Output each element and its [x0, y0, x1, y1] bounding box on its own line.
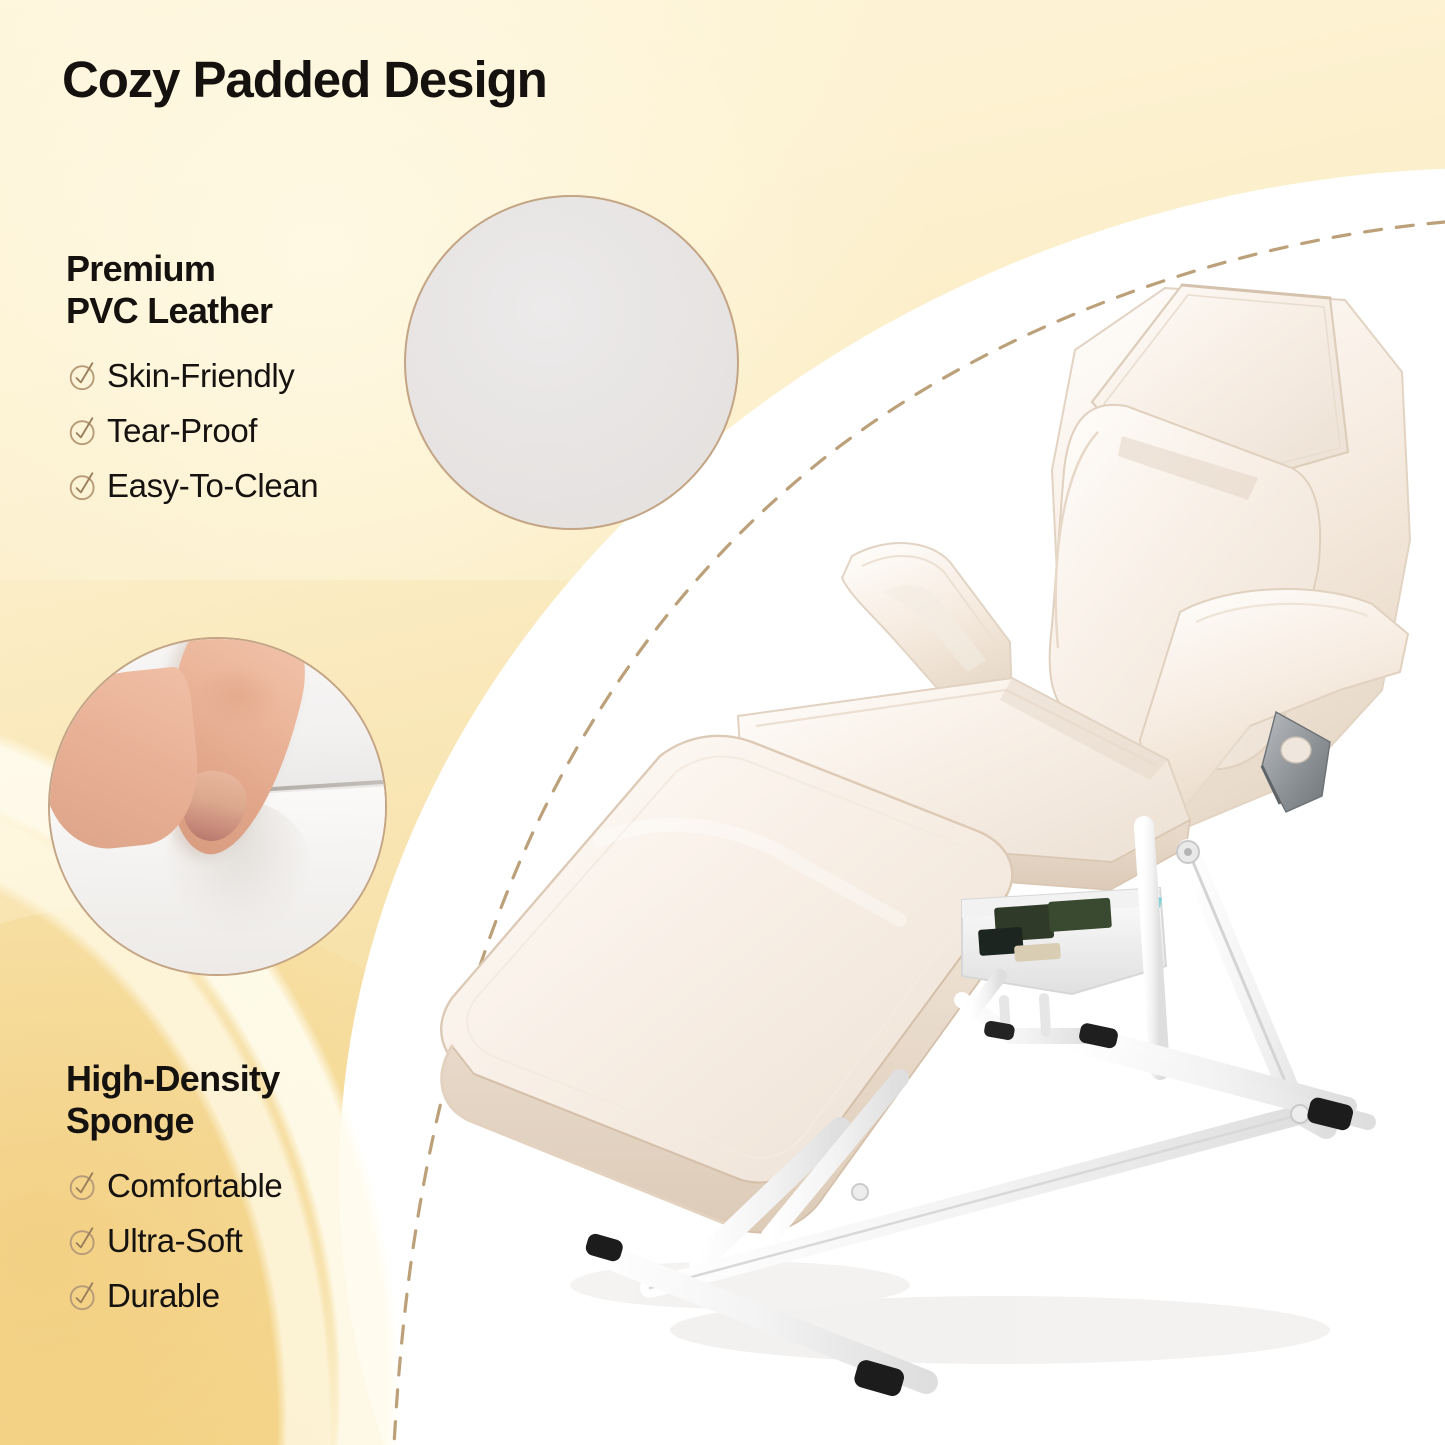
infographic-poster: Cozy Padded Design Premium PVC Leather S…	[0, 0, 1445, 1445]
product-illustration	[0, 0, 1445, 1445]
leg-rest-cushion	[441, 736, 1012, 1233]
